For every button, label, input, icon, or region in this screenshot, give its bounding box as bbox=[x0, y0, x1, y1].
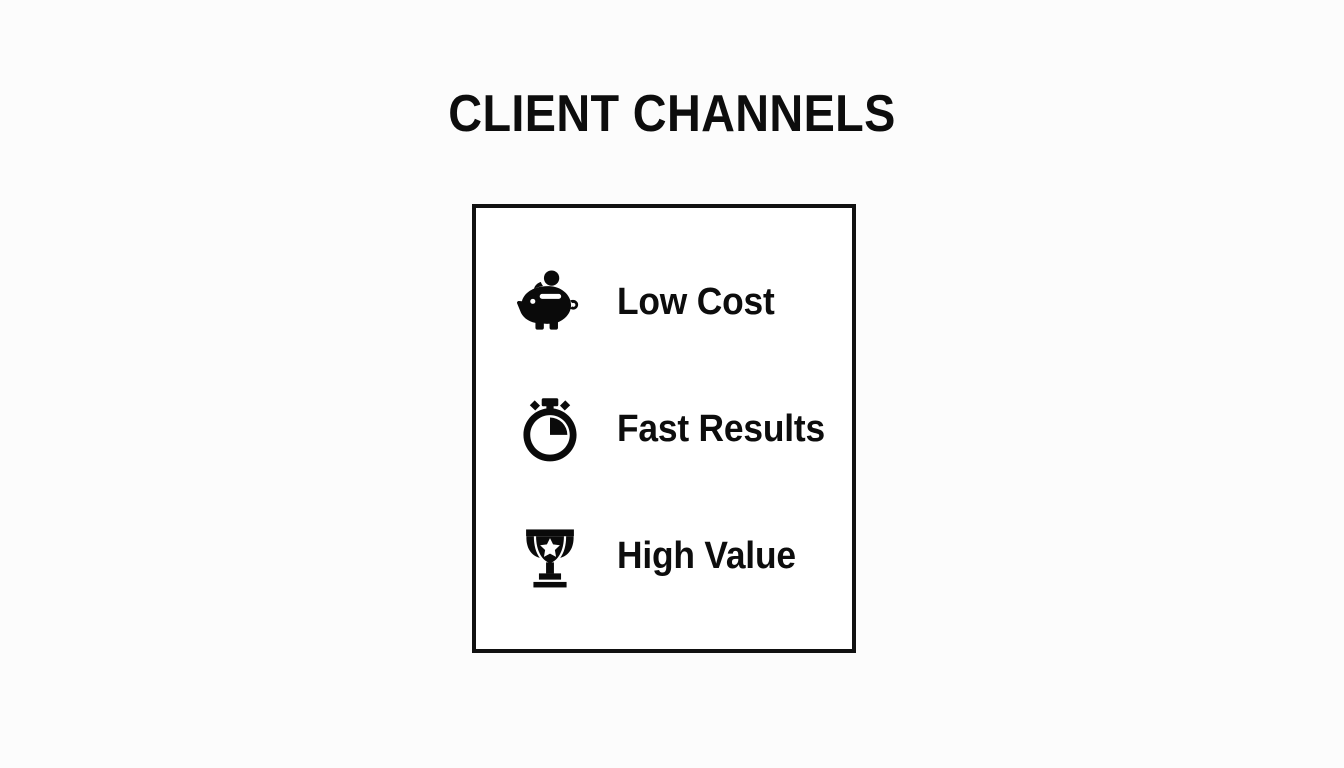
stopwatch-icon bbox=[515, 394, 585, 464]
list-item-label: Fast Results bbox=[617, 410, 825, 448]
list-item[interactable]: Fast Results bbox=[476, 381, 852, 477]
list-item-label: High Value bbox=[617, 537, 796, 575]
list-item[interactable]: High Value bbox=[476, 508, 852, 604]
page-title: CLIENT CHANNELS bbox=[67, 88, 1277, 140]
trophy-icon bbox=[515, 521, 585, 591]
channels-list: Low Cost bbox=[476, 208, 852, 649]
piggy-bank-icon bbox=[515, 267, 585, 337]
list-item[interactable]: Low Cost bbox=[476, 254, 852, 350]
list-item-label: Low Cost bbox=[617, 283, 775, 321]
slide-canvas: CLIENT CHANNELS bbox=[0, 0, 1344, 768]
channels-panel: Low Cost bbox=[472, 204, 856, 653]
